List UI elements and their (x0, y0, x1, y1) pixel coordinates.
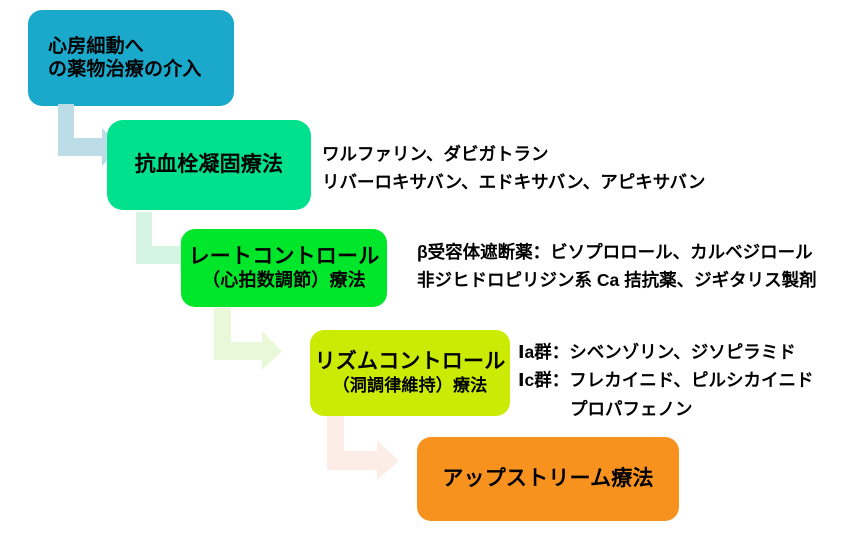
annotation-anticoagulation-line2: リバーロキサバン、エドキサバン、アピキサバン (322, 168, 705, 196)
node-rhythm-control-line1: リズムコントロール (315, 349, 506, 375)
annotation-rate-control-drugs: β受容体遮断薬：ビソプロロール、カルベジロール 非ジヒドロピリジン系 Ca 拮抗… (417, 238, 817, 295)
node-upstream[interactable]: アップストリーム療法 (417, 437, 679, 521)
node-rhythm-control[interactable]: リズムコントロール （洞調律維持）療法 (310, 330, 510, 416)
node-anticoagulation[interactable]: 抗血栓凝固療法 (107, 120, 311, 210)
node-intervention-line2: の薬物治療の介入 (48, 58, 202, 81)
elbow-arrow-icon (214, 308, 282, 370)
node-rate-control-line2: （心拍数調節）療法 (202, 270, 366, 292)
arrow-rate-control-to-rhythm-control (214, 308, 282, 370)
node-rate-control-line1: レートコントロール (189, 244, 380, 270)
arrow-rhythm-control-to-upstream (327, 416, 399, 480)
node-upstream-label: アップストリーム療法 (442, 466, 653, 492)
annotation-anticoagulation-drugs: ワルファリン、ダビガトラン リバーロキサバン、エドキサバン、アピキサバン (322, 140, 705, 197)
annotation-rhythm-control-line1: Ⅰa群：シベンゾリン、ジソピラミド (518, 338, 814, 366)
elbow-arrow-icon (327, 416, 399, 480)
annotation-anticoagulation-line1: ワルファリン、ダビガトラン (322, 140, 705, 168)
node-rhythm-control-line2: （洞調律維持）療法 (333, 376, 488, 397)
annotation-rhythm-control-line2: Ⅰc群：フレカイニド、ピルシカイニド (518, 366, 814, 394)
node-anticoagulation-label: 抗血栓凝固療法 (135, 152, 283, 178)
diagram-canvas: 心房細動へ の薬物治療の介入 抗血栓凝固療法 ワルファリン、ダビガトラン リバー… (0, 0, 864, 540)
node-rate-control[interactable]: レートコントロール （心拍数調節）療法 (181, 229, 387, 307)
annotation-rate-control-line1: β受容体遮断薬：ビソプロロール、カルベジロール (417, 238, 817, 266)
node-intervention-line1: 心房細動へ (48, 35, 144, 58)
annotation-rate-control-line2: 非ジヒドロピリジン系 Ca 拮抗薬、ジギタリス製剤 (417, 266, 817, 294)
annotation-rhythm-control-drugs: Ⅰa群：シベンゾリン、ジソピラミド Ⅰc群：フレカイニド、ピルシカイニド プロパ… (518, 338, 814, 423)
annotation-rhythm-control-line3: プロパフェノン (518, 395, 814, 423)
node-intervention[interactable]: 心房細動へ の薬物治療の介入 (28, 10, 234, 106)
